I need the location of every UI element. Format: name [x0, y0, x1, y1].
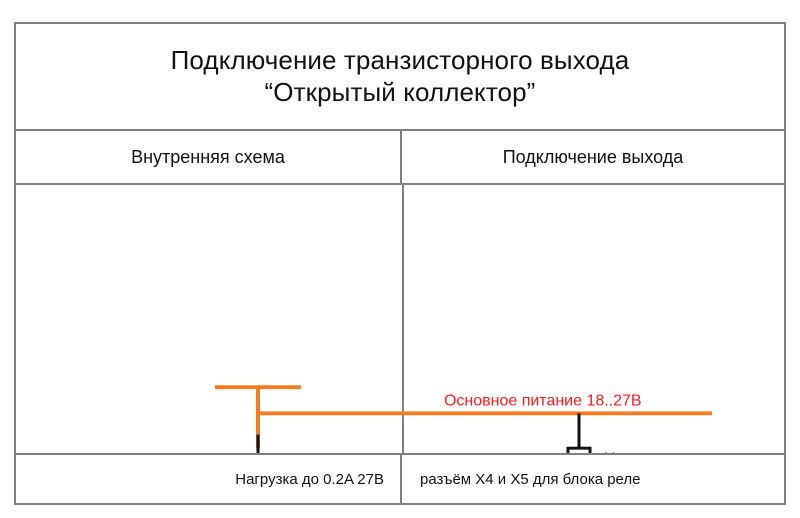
header-label-internal-schematic: Внутренняя схема — [131, 147, 285, 168]
header-label-output-connection: Подключение выхода — [503, 147, 684, 168]
label-supply-positive: Основное питание 18..27В — [444, 393, 642, 410]
title-line-2: “Открытый коллектор” — [171, 77, 630, 109]
column-divider — [402, 185, 404, 453]
title-row: Подключение транзисторного выхода “Откры… — [16, 24, 784, 131]
label-load: Нагрузка — [604, 451, 671, 453]
load-resistor-body — [568, 448, 590, 453]
footer-row: Нагрузка до 0.2A 27В разъём X4 и X5 для … — [16, 453, 784, 503]
components-black — [212, 413, 579, 453]
wiring-orange — [154, 387, 712, 453]
header-cell-output-connection: Подключение выхода — [402, 131, 784, 183]
footer-label-connector-info: разъём X4 и X5 для блока реле — [420, 471, 641, 488]
diagram-table: Подключение транзисторного выхода “Откры… — [14, 22, 786, 505]
header-cell-internal-schematic: Внутренняя схема — [16, 131, 402, 183]
title-line-1: Подключение транзисторного выхода — [171, 45, 630, 75]
footer-cell-load-rating: Нагрузка до 0.2A 27В — [16, 455, 402, 503]
footer-label-load-rating: Нагрузка до 0.2A 27В — [235, 471, 384, 488]
page-title: Подключение транзисторного выхода “Откры… — [163, 45, 638, 108]
diagram-page: Подключение транзисторного выхода “Откры… — [0, 0, 800, 518]
footer-cell-connector-info: разъём X4 и X5 для блока реле — [402, 455, 784, 503]
header-row: Внутренняя схема Подключение выхода — [16, 131, 784, 185]
schematic-row: Выход DO Нагрузка Основное питание 18..2… — [16, 185, 784, 453]
circuit-schematic: Выход DO Нагрузка Основное питание 18..2… — [16, 185, 784, 453]
